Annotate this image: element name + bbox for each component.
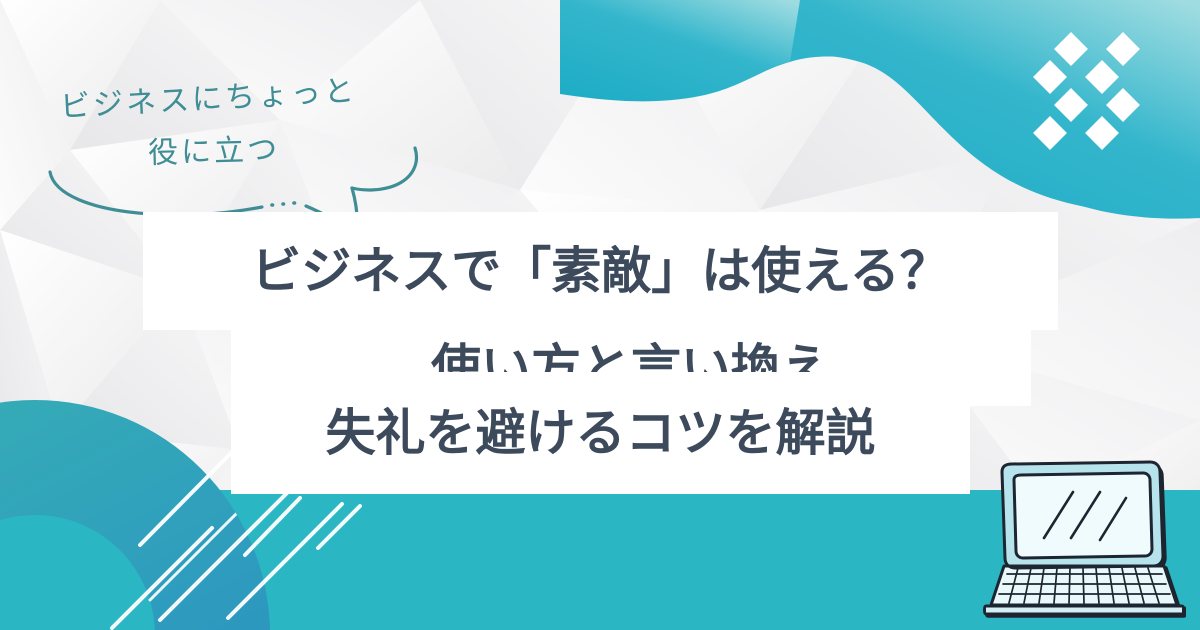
title-line-1: ビジネスで「素敵」は使える？ xyxy=(251,246,950,296)
title-plate-3: 失礼を避けるコツを解説 xyxy=(231,372,970,494)
title-line-3: 失礼を避けるコツを解説 xyxy=(326,408,876,458)
laptop-screen xyxy=(1014,473,1152,558)
thumbnail-canvas: ビジネスにちょっと 役に立つ ビジネスで「素敵」は使える？ 使い方と言い換え 失… xyxy=(0,0,1200,630)
laptop-illustration xyxy=(966,450,1186,625)
title-plate-1: ビジネスで「素敵」は使える？ xyxy=(143,212,1058,330)
